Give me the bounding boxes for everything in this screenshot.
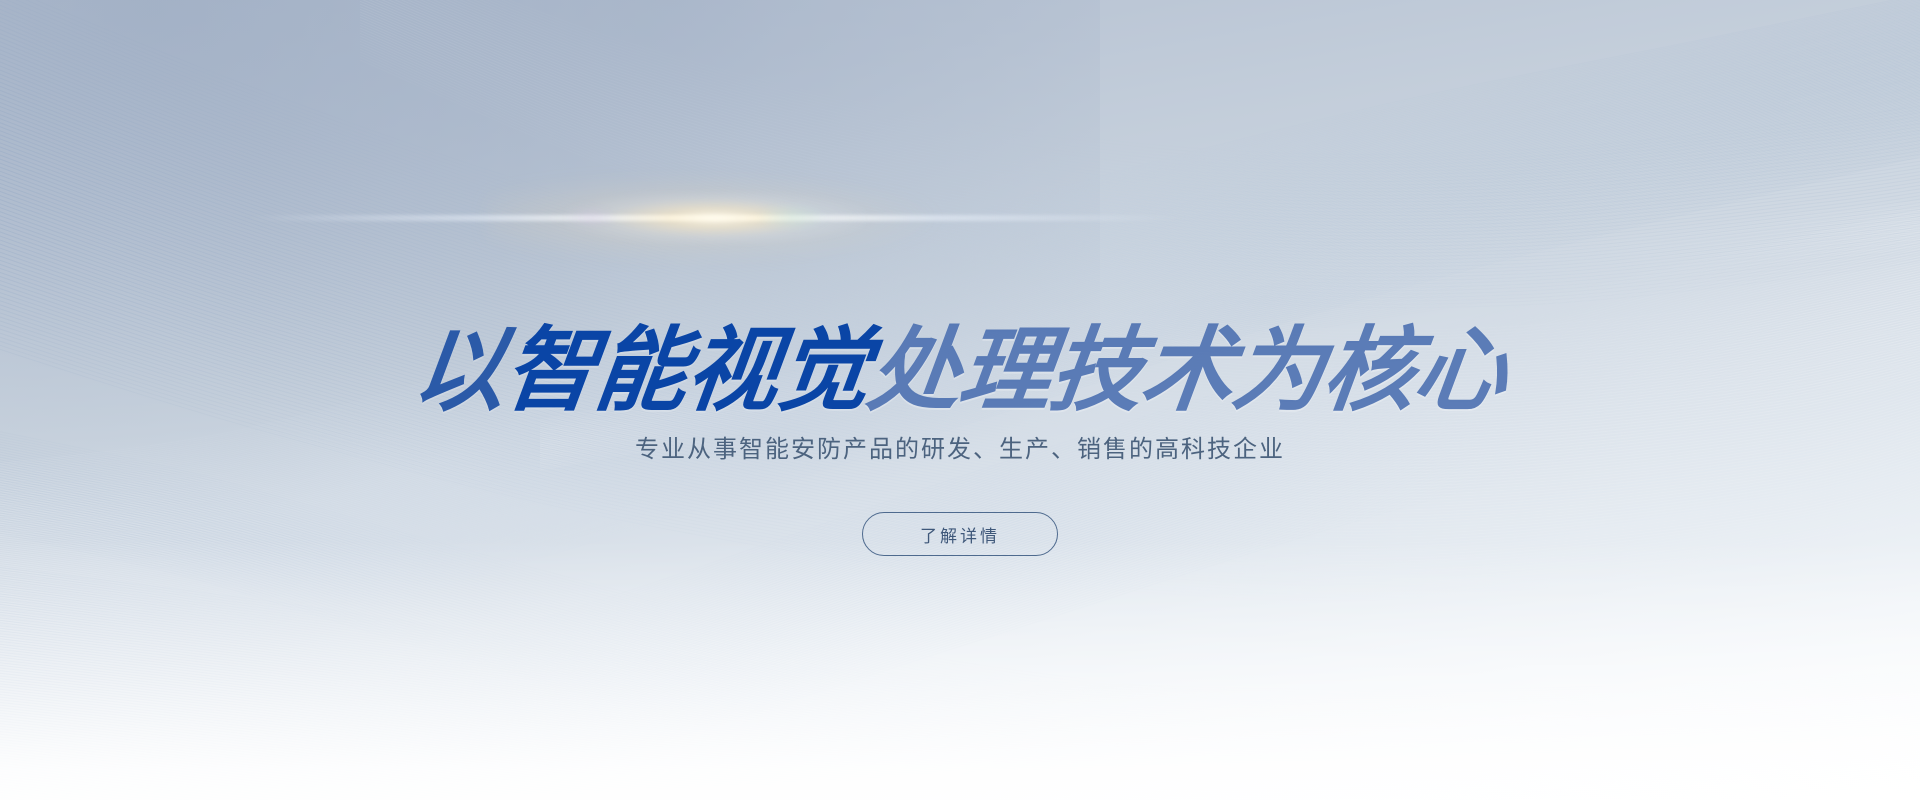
headline-part-a: 以 — [407, 317, 511, 424]
headline-part-c: 处理技术为核心 — [862, 317, 1512, 424]
learn-more-button[interactable]: 了解详情 — [862, 512, 1058, 556]
cta-container: 了解详情 — [0, 512, 1920, 556]
page-title: 以智能视觉处理技术为核心 — [0, 324, 1920, 418]
hero-banner: 以智能视觉处理技术为核心 专业从事智能安防产品的研发、生产、销售的高科技企业 了… — [0, 0, 1920, 800]
headline-part-b: 智能视觉 — [498, 317, 875, 424]
hero-subtitle: 专业从事智能安防产品的研发、生产、销售的高科技企业 — [0, 429, 1920, 464]
hero-content: 以智能视觉处理技术为核心 专业从事智能安防产品的研发、生产、销售的高科技企业 了… — [0, 0, 1920, 800]
